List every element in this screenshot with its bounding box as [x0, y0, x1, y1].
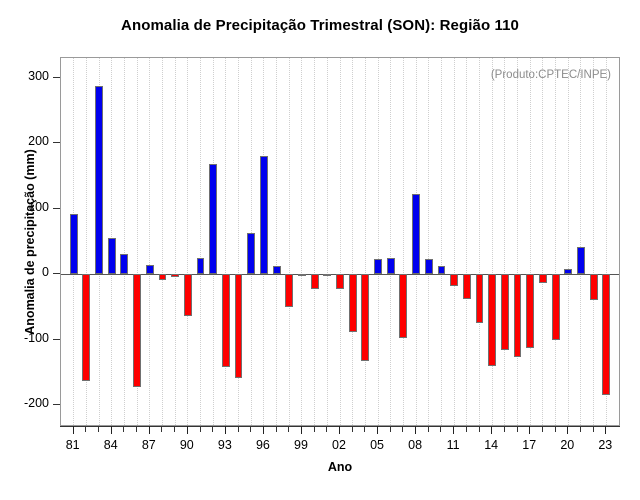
bar-series — [61, 58, 619, 425]
x-tick — [200, 426, 201, 432]
bar — [70, 214, 78, 274]
bar — [285, 274, 293, 307]
x-tick — [250, 426, 251, 432]
x-tick — [314, 426, 315, 432]
x-tick — [491, 426, 492, 434]
x-tick — [352, 426, 353, 432]
x-tick — [466, 426, 467, 432]
bar — [171, 274, 179, 277]
x-tick-label: 11 — [438, 438, 468, 452]
bar — [514, 274, 522, 357]
bar — [95, 86, 103, 275]
x-tick-label: 14 — [476, 438, 506, 452]
chart-page: Anomalia de Precipitação Trimestral (SON… — [0, 0, 640, 500]
x-tick — [517, 426, 518, 432]
x-tick — [567, 426, 568, 434]
x-tick — [225, 426, 226, 434]
bar — [501, 274, 509, 349]
x-axis: 818487909396990205081114172023 Ano — [60, 426, 620, 486]
x-tick — [73, 426, 74, 434]
bar — [197, 258, 205, 274]
y-tick-mark — [53, 208, 60, 209]
x-axis-line — [60, 426, 620, 427]
x-tick — [440, 426, 441, 432]
x-tick — [529, 426, 530, 434]
bar — [133, 274, 141, 387]
x-tick — [326, 426, 327, 432]
x-tick-label: 93 — [210, 438, 240, 452]
bar — [260, 156, 268, 274]
x-tick — [390, 426, 391, 432]
y-tick-mark — [53, 142, 60, 143]
x-tick — [174, 426, 175, 432]
y-axis: 3002001000-100-200 Anomalia de precipita… — [0, 57, 60, 426]
bar — [120, 254, 128, 274]
bar — [159, 274, 167, 279]
x-tick — [212, 426, 213, 432]
x-tick — [123, 426, 124, 432]
x-tick — [364, 426, 365, 432]
bar — [311, 274, 319, 288]
y-axis-label: Anomalia de precipitação (mm) — [23, 62, 37, 422]
x-tick — [276, 426, 277, 432]
bar — [526, 274, 534, 347]
x-tick — [98, 426, 99, 432]
x-axis-label: Ano — [60, 460, 620, 474]
x-tick — [161, 426, 162, 432]
y-tick-label: 0 — [42, 265, 49, 279]
x-tick — [136, 426, 137, 432]
bar — [222, 274, 230, 367]
bar — [235, 274, 243, 378]
x-tick-label: 23 — [590, 438, 620, 452]
bar — [209, 164, 217, 274]
x-tick — [187, 426, 188, 434]
x-tick — [288, 426, 289, 432]
bar — [425, 259, 433, 274]
x-tick — [415, 426, 416, 434]
bar — [450, 274, 458, 286]
bar — [273, 266, 281, 275]
bar — [476, 274, 484, 323]
bar — [146, 265, 154, 274]
x-tick-label: 81 — [58, 438, 88, 452]
x-tick-label: 17 — [514, 438, 544, 452]
x-tick-label: 96 — [248, 438, 278, 452]
bar — [539, 274, 547, 283]
x-tick-label: 84 — [96, 438, 126, 452]
bar — [298, 274, 306, 276]
bar — [463, 274, 471, 299]
x-tick-label: 08 — [400, 438, 430, 452]
x-tick — [149, 426, 150, 434]
x-tick-label: 20 — [552, 438, 582, 452]
bar — [247, 233, 255, 274]
bar — [438, 266, 446, 275]
x-tick — [593, 426, 594, 432]
x-tick — [111, 426, 112, 434]
x-tick-label: 87 — [134, 438, 164, 452]
x-tick — [580, 426, 581, 432]
x-tick — [504, 426, 505, 432]
bar — [184, 274, 192, 315]
x-tick-label: 99 — [286, 438, 316, 452]
bar — [387, 258, 395, 274]
x-tick-label: 05 — [362, 438, 392, 452]
bar — [552, 274, 560, 340]
x-tick-label: 90 — [172, 438, 202, 452]
x-tick — [339, 426, 340, 434]
bar — [374, 259, 382, 275]
bar — [577, 247, 585, 274]
y-tick-mark — [53, 404, 60, 405]
bar — [412, 194, 420, 274]
y-tick-mark — [53, 339, 60, 340]
plot-area: (Produto:CPTEC/INPE) — [60, 57, 620, 426]
bar — [564, 269, 572, 274]
x-tick — [453, 426, 454, 434]
y-tick-mark — [53, 77, 60, 78]
y-tick-mark — [53, 273, 60, 274]
bar — [336, 274, 344, 289]
x-tick — [605, 426, 606, 434]
produto-annotation: (Produto:CPTEC/INPE) — [491, 69, 611, 81]
bar — [82, 274, 90, 381]
x-tick-label: 02 — [324, 438, 354, 452]
x-tick — [555, 426, 556, 432]
x-tick — [479, 426, 480, 432]
bar — [361, 274, 369, 361]
bar — [108, 238, 116, 275]
x-tick — [301, 426, 302, 434]
bar — [399, 274, 407, 338]
x-tick — [85, 426, 86, 432]
bar — [602, 274, 610, 395]
bar — [323, 274, 331, 276]
page-title: Anomalia de Precipitação Trimestral (SON… — [0, 17, 640, 34]
x-tick — [377, 426, 378, 434]
x-tick — [238, 426, 239, 432]
x-tick — [428, 426, 429, 432]
bar — [590, 274, 598, 300]
x-tick — [542, 426, 543, 432]
x-tick — [402, 426, 403, 432]
bar — [349, 274, 357, 332]
bar — [488, 274, 496, 366]
x-tick — [263, 426, 264, 434]
